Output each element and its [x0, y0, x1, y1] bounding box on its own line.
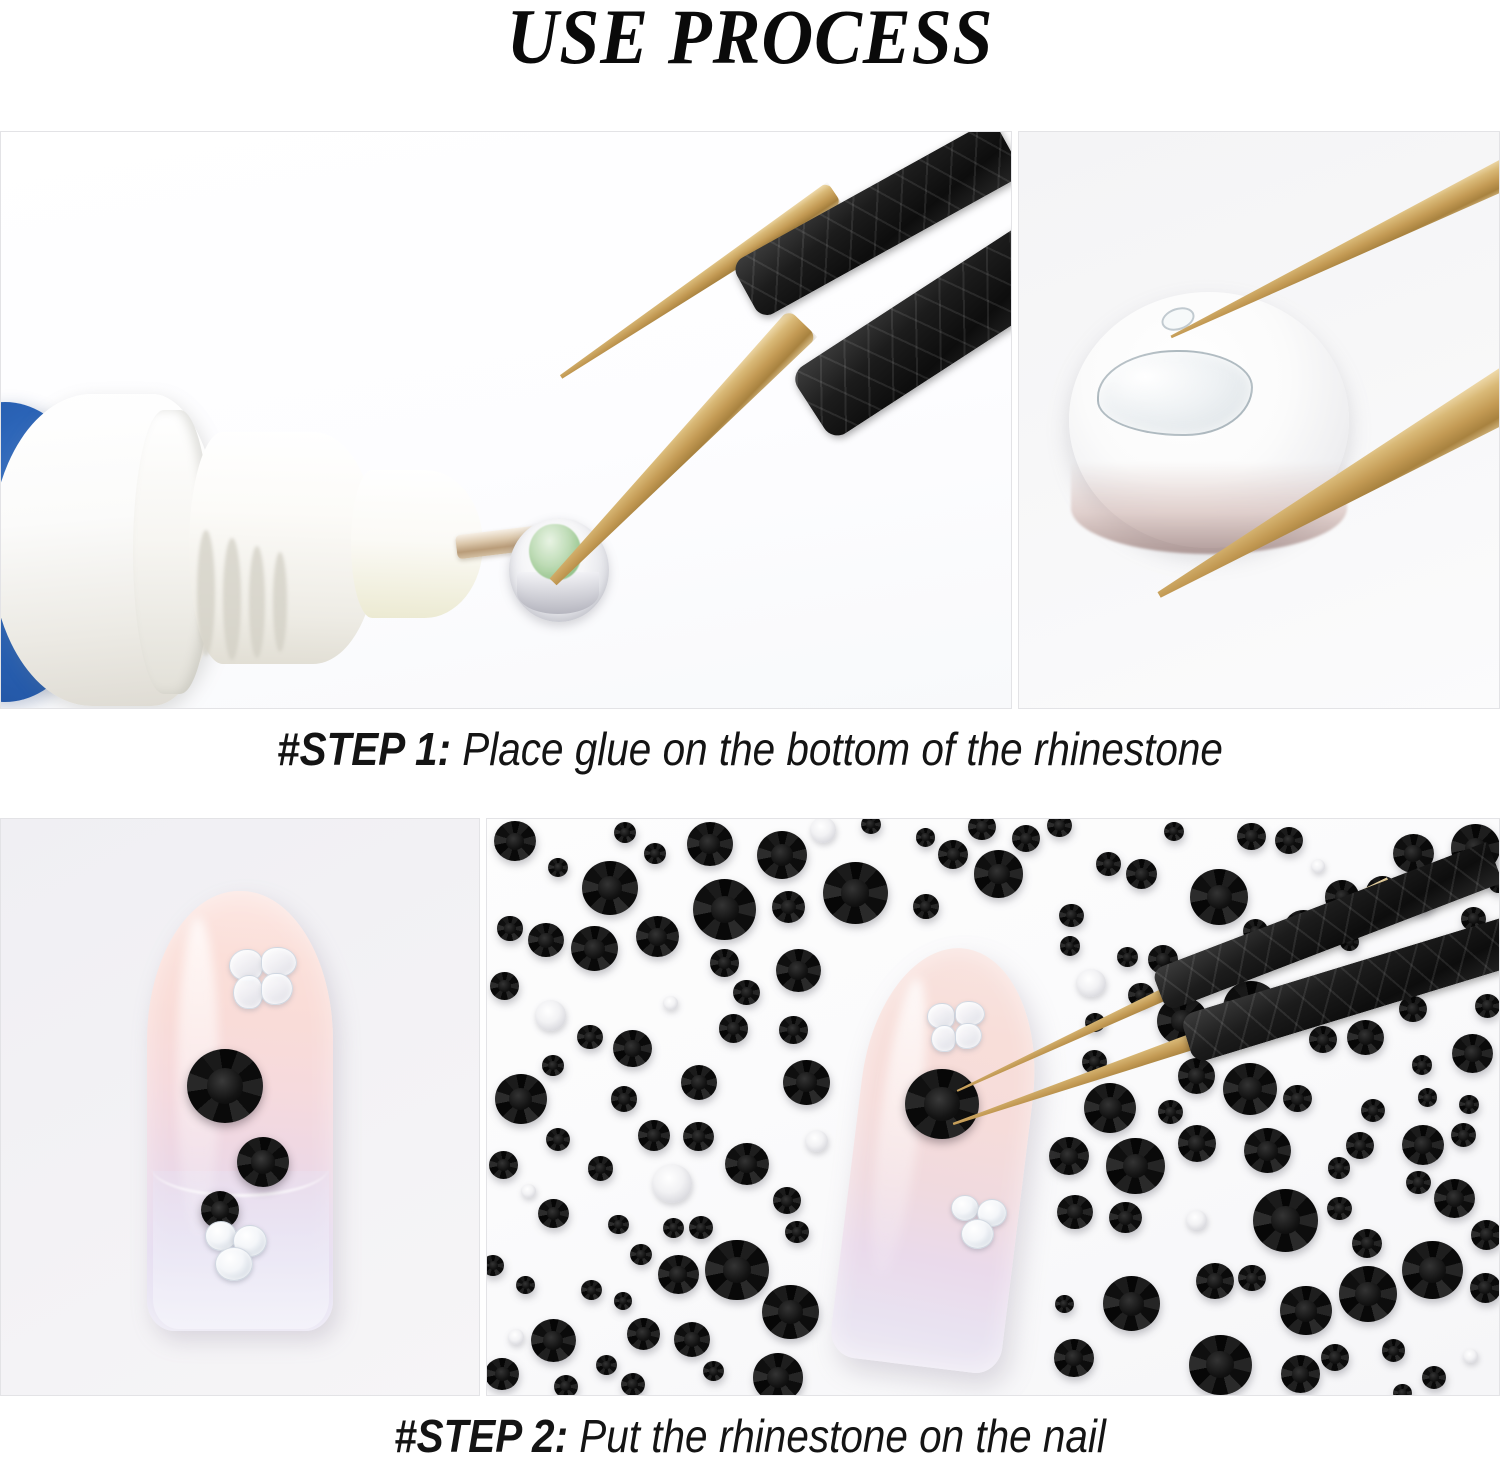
black-rhinestone — [1055, 1295, 1074, 1313]
black-rhinestone — [571, 926, 618, 971]
black-rhinestone — [703, 1361, 724, 1381]
black-rhinestone — [1054, 1339, 1093, 1377]
silver-flatback-rhinestone — [652, 1164, 693, 1203]
black-rhinestone — [753, 1353, 803, 1396]
black-rhinestone — [516, 1276, 535, 1294]
black-rhinestone — [1117, 947, 1138, 967]
black-rhinestone — [1402, 1125, 1444, 1165]
black-rhinestone — [490, 972, 519, 1000]
tweezer-arm-lower — [539, 309, 818, 596]
butterfly-wing — [233, 975, 263, 1009]
black-rhinestone — [1346, 1132, 1374, 1159]
black-rhinestone-large — [187, 1049, 263, 1123]
black-rhinestone — [663, 1218, 684, 1238]
black-rhinestone — [614, 1292, 632, 1310]
black-rhinestone — [636, 916, 679, 957]
black-rhinestone — [1253, 1189, 1319, 1252]
black-rhinestone — [1328, 1157, 1350, 1178]
black-rhinestone — [1084, 1083, 1136, 1133]
step-2-caption: #STEP 2: Put the rhinestone on the nail — [90, 1409, 1410, 1463]
clear-rhinestone-cluster — [947, 1195, 1013, 1251]
butterfly-charm — [227, 947, 297, 1013]
black-rhinestone — [693, 879, 757, 940]
black-rhinestone — [1059, 904, 1083, 927]
applying-rhinestone-photo — [486, 818, 1500, 1396]
butterfly-wing — [955, 1023, 982, 1049]
glue-bottle-rib — [249, 546, 265, 658]
black-rhinestone — [1283, 1085, 1311, 1112]
black-rhinestone — [497, 916, 522, 940]
black-rhinestone — [596, 1355, 617, 1375]
glue-bottle-rib — [223, 538, 241, 660]
black-rhinestone — [1275, 827, 1303, 854]
black-rhinestone — [1096, 852, 1121, 876]
black-rhinestone — [1451, 1123, 1477, 1148]
step-1-text: Place glue on the bottom of the rhinesto… — [451, 723, 1223, 775]
clear-rhinestone — [951, 1195, 979, 1221]
black-rhinestone — [608, 1215, 629, 1235]
black-rhinestone-on-nail — [905, 1069, 979, 1139]
black-rhinestone — [1309, 1026, 1337, 1053]
butterfly-wing — [931, 1025, 956, 1052]
black-rhinestone — [644, 843, 666, 864]
black-rhinestone — [916, 828, 935, 846]
step-2-text: Put the rhinestone on the nail — [568, 1410, 1106, 1462]
butterfly-charm — [927, 1001, 985, 1053]
rhinestone-closeup-photo — [1018, 131, 1500, 709]
silver-flatback-rhinestone — [535, 1000, 567, 1030]
black-rhinestone — [546, 1128, 570, 1151]
clear-rhinestone — [215, 1247, 253, 1281]
use-process-infographic: USE PROCESS — [0, 0, 1500, 1466]
black-rhinestone — [974, 850, 1023, 897]
black-rhinestone — [486, 1358, 519, 1391]
black-rhinestone — [762, 1285, 818, 1339]
black-rhinestone — [687, 822, 733, 866]
step-2-image-row — [0, 818, 1500, 1396]
black-rhinestone — [783, 1060, 830, 1105]
black-rhinestone — [710, 949, 739, 976]
black-rhinestone — [1327, 1197, 1352, 1221]
black-rhinestone — [1057, 1195, 1092, 1229]
black-rhinestone — [494, 821, 536, 861]
step-1-image-row — [0, 131, 1500, 709]
glue-applicator-photo — [0, 131, 1012, 709]
black-rhinestone — [1060, 936, 1081, 956]
silver-flatback-rhinestone — [1311, 859, 1325, 873]
black-rhinestone — [772, 891, 806, 923]
black-rhinestone — [1196, 1263, 1234, 1299]
black-rhinestone — [554, 1375, 578, 1396]
black-rhinestone — [681, 1065, 718, 1100]
black-rhinestone — [913, 894, 939, 919]
silver-flatback-rhinestone — [1076, 969, 1106, 998]
black-rhinestone — [577, 1025, 602, 1049]
black-rhinestone — [1189, 1335, 1252, 1395]
black-rhinestone — [489, 1151, 518, 1179]
black-rhinestone — [613, 1030, 652, 1067]
black-rhinestone — [1280, 1286, 1332, 1335]
black-rhinestone — [1361, 1099, 1385, 1122]
black-rhinestone — [1321, 1344, 1350, 1372]
step-1-caption: #STEP 1: Place glue on the bottom of the… — [90, 722, 1410, 776]
glue-dab — [529, 524, 581, 580]
black-rhinestone — [1406, 1171, 1431, 1195]
black-rhinestone — [495, 1074, 548, 1125]
black-rhinestone — [542, 1055, 563, 1076]
black-rhinestone — [725, 1143, 769, 1185]
black-rhinestone — [968, 818, 995, 840]
clear-rhinestone-cluster — [199, 1221, 273, 1283]
clear-rhinestone — [961, 1219, 994, 1249]
black-rhinestone — [1475, 994, 1500, 1019]
black-rhinestone — [627, 1318, 660, 1350]
black-rhinestone — [1452, 1034, 1493, 1073]
black-rhinestone — [614, 822, 636, 843]
silver-flatback-rhinestone — [1186, 1210, 1207, 1230]
black-rhinestone — [1103, 1276, 1160, 1331]
silver-flatback-rhinestone — [521, 1184, 536, 1198]
black-rhinestone — [1434, 1179, 1475, 1218]
black-rhinestone — [785, 1221, 808, 1243]
glue-bottle-rib — [197, 530, 215, 656]
black-rhinestone — [548, 858, 568, 877]
black-rhinestone — [638, 1120, 670, 1151]
black-rhinestone — [1470, 1273, 1500, 1303]
black-rhinestone — [779, 1016, 808, 1043]
black-rhinestone — [733, 980, 760, 1006]
black-rhinestone — [1164, 822, 1184, 841]
black-rhinestone — [719, 1014, 749, 1043]
black-rhinestone — [938, 840, 968, 869]
butterfly-wing — [261, 973, 293, 1005]
silver-flatback-rhinestone — [663, 996, 678, 1010]
black-rhinestone — [1339, 1266, 1397, 1322]
black-rhinestone — [1244, 1128, 1291, 1173]
black-rhinestone — [581, 1280, 602, 1300]
black-rhinestone — [1347, 1020, 1384, 1055]
black-rhinestone — [1237, 823, 1265, 850]
black-rhinestone — [674, 1322, 710, 1357]
black-rhinestone — [588, 1156, 614, 1181]
black-rhinestone — [1422, 1366, 1446, 1389]
black-rhinestone — [1012, 825, 1040, 852]
black-rhinestone — [1223, 1063, 1277, 1115]
black-rhinestone — [1402, 1241, 1463, 1300]
black-rhinestone — [582, 861, 638, 915]
black-rhinestone — [1109, 1202, 1142, 1234]
black-rhinestone — [823, 862, 888, 925]
black-rhinestone — [1393, 1384, 1412, 1396]
black-rhinestone — [630, 1244, 652, 1265]
black-rhinestone — [621, 1373, 645, 1396]
black-rhinestone — [1412, 1055, 1433, 1075]
step-1-label: #STEP 1: — [277, 723, 451, 775]
glue-blob — [1097, 350, 1253, 436]
black-rhinestone — [1281, 1355, 1321, 1393]
black-rhinestone — [1047, 818, 1072, 837]
black-rhinestone — [486, 1255, 504, 1276]
finished-nail-photo — [0, 818, 480, 1396]
silver-flatback-rhinestone — [508, 1329, 524, 1344]
step-2-label: #STEP 2: — [394, 1410, 568, 1462]
black-rhinestone-medium — [237, 1137, 289, 1187]
silver-flatback-rhinestone — [810, 818, 837, 843]
black-rhinestone — [1459, 1095, 1479, 1114]
silver-flatback-rhinestone — [1463, 1349, 1478, 1363]
black-rhinestone — [1190, 869, 1248, 925]
black-rhinestone — [611, 1086, 638, 1112]
black-rhinestone — [705, 1240, 768, 1301]
black-rhinestone — [1238, 1265, 1265, 1291]
black-rhinestone — [861, 818, 881, 834]
black-rhinestone — [1178, 1058, 1215, 1094]
black-rhinestone — [1352, 1229, 1382, 1258]
black-rhinestone — [689, 1216, 713, 1239]
black-rhinestone — [1418, 1088, 1438, 1107]
black-rhinestone — [757, 831, 807, 879]
black-rhinestone — [531, 1319, 576, 1363]
black-rhinestone — [1382, 1339, 1406, 1362]
black-rhinestone — [528, 923, 564, 957]
black-rhinestone — [1106, 1138, 1164, 1194]
black-rhinestone — [1049, 1137, 1089, 1175]
black-rhinestone — [776, 949, 821, 992]
black-rhinestone — [683, 1122, 714, 1151]
black-rhinestone — [658, 1255, 698, 1294]
black-rhinestone — [1178, 1125, 1216, 1162]
black-rhinestone — [1471, 1220, 1500, 1250]
black-rhinestone — [773, 1187, 801, 1214]
black-rhinestone — [1158, 1100, 1183, 1124]
silver-flatback-rhinestone — [805, 1130, 828, 1153]
black-rhinestone — [538, 1199, 569, 1229]
page-title: USE PROCESS — [60, 0, 1440, 82]
glue-bottle-rib — [273, 552, 287, 652]
black-rhinestone — [1126, 859, 1157, 889]
